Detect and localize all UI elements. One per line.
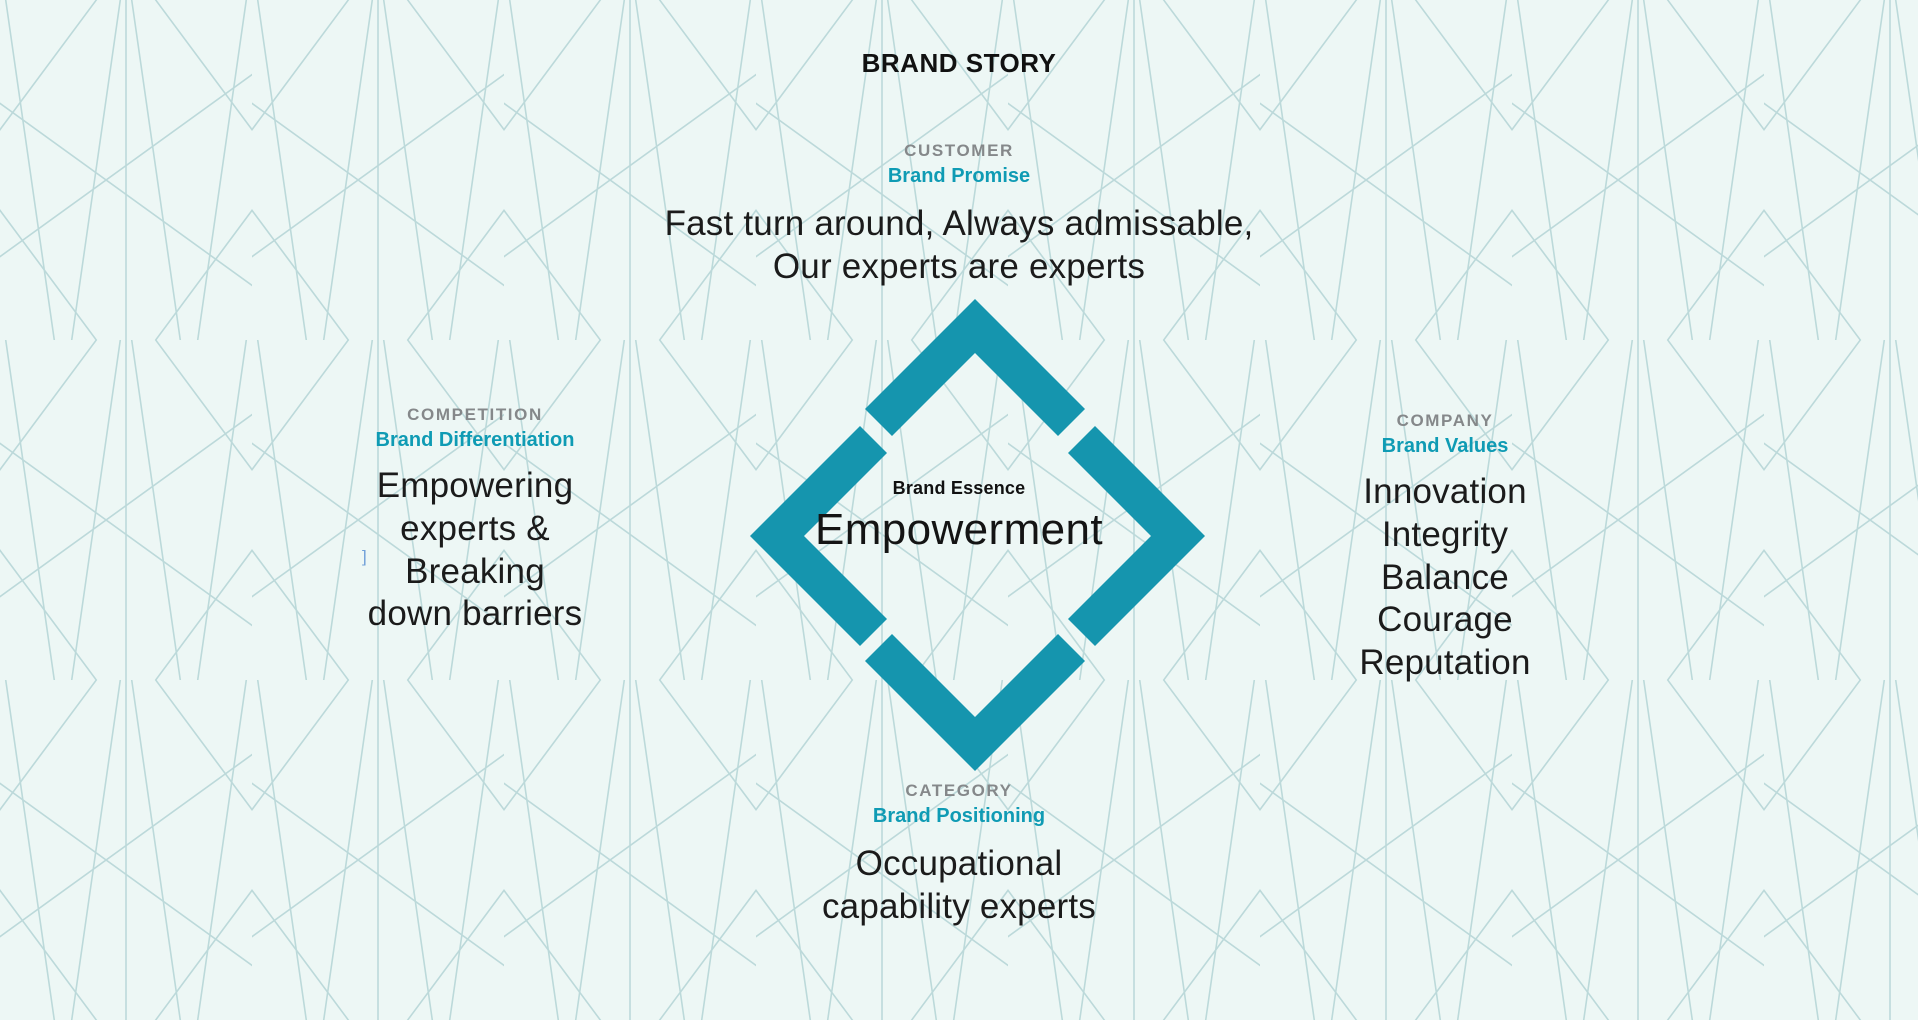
stray-caret-artifact: ]	[362, 547, 367, 567]
competition-subhead: Brand Differentiation	[300, 427, 650, 453]
company-line-1: Innovation	[1280, 471, 1610, 514]
page-title: BRAND STORY	[0, 48, 1918, 79]
category-subhead: Brand Positioning	[0, 803, 1918, 829]
company-line-4: Courage	[1280, 599, 1610, 642]
chevron-left-icon	[750, 426, 887, 646]
chevron-top-icon	[865, 299, 1085, 436]
competition-line-3: Breaking	[300, 551, 650, 594]
customer-line-1: Fast turn around, Always admissable,	[0, 203, 1918, 246]
customer-line-2: Our experts are experts	[0, 246, 1918, 289]
customer-subhead: Brand Promise	[0, 163, 1918, 189]
category-body: Occupational capability experts	[0, 843, 1918, 928]
company-body: Innovation Integrity Balance Courage Rep…	[1280, 471, 1610, 684]
competition-body: Empowering experts & Breaking down barri…	[300, 465, 650, 636]
company-eyebrow: COMPANY	[1280, 410, 1610, 431]
quadrant-category: CATEGORY Brand Positioning Occupational …	[0, 780, 1918, 929]
category-eyebrow: CATEGORY	[0, 780, 1918, 801]
company-line-3: Balance	[1280, 557, 1610, 600]
brand-story-canvas: BRAND STORY CUSTOMER Brand Promise Fast …	[0, 0, 1918, 1020]
brand-essence-diamond	[745, 290, 1210, 780]
company-line-5: Reputation	[1280, 642, 1610, 685]
competition-line-1: Empowering	[300, 465, 650, 508]
customer-body: Fast turn around, Always admissable, Our…	[0, 203, 1918, 288]
competition-line-2: experts &	[300, 508, 650, 551]
customer-eyebrow: CUSTOMER	[0, 140, 1918, 161]
competition-eyebrow: COMPETITION	[300, 404, 650, 425]
quadrant-customer: CUSTOMER Brand Promise Fast turn around,…	[0, 140, 1918, 289]
diamond-svg	[745, 290, 1210, 780]
competition-line-4: down barriers	[300, 593, 650, 636]
category-line-1: Occupational	[0, 843, 1918, 886]
quadrant-competition: COMPETITION Brand Differentiation Empowe…	[300, 404, 650, 636]
company-line-2: Integrity	[1280, 514, 1610, 557]
chevron-right-icon	[1068, 426, 1205, 646]
chevron-bottom-icon	[865, 634, 1085, 771]
category-line-2: capability experts	[0, 886, 1918, 929]
quadrant-company: COMPANY Brand Values Innovation Integrit…	[1280, 410, 1610, 685]
company-subhead: Brand Values	[1280, 433, 1610, 459]
